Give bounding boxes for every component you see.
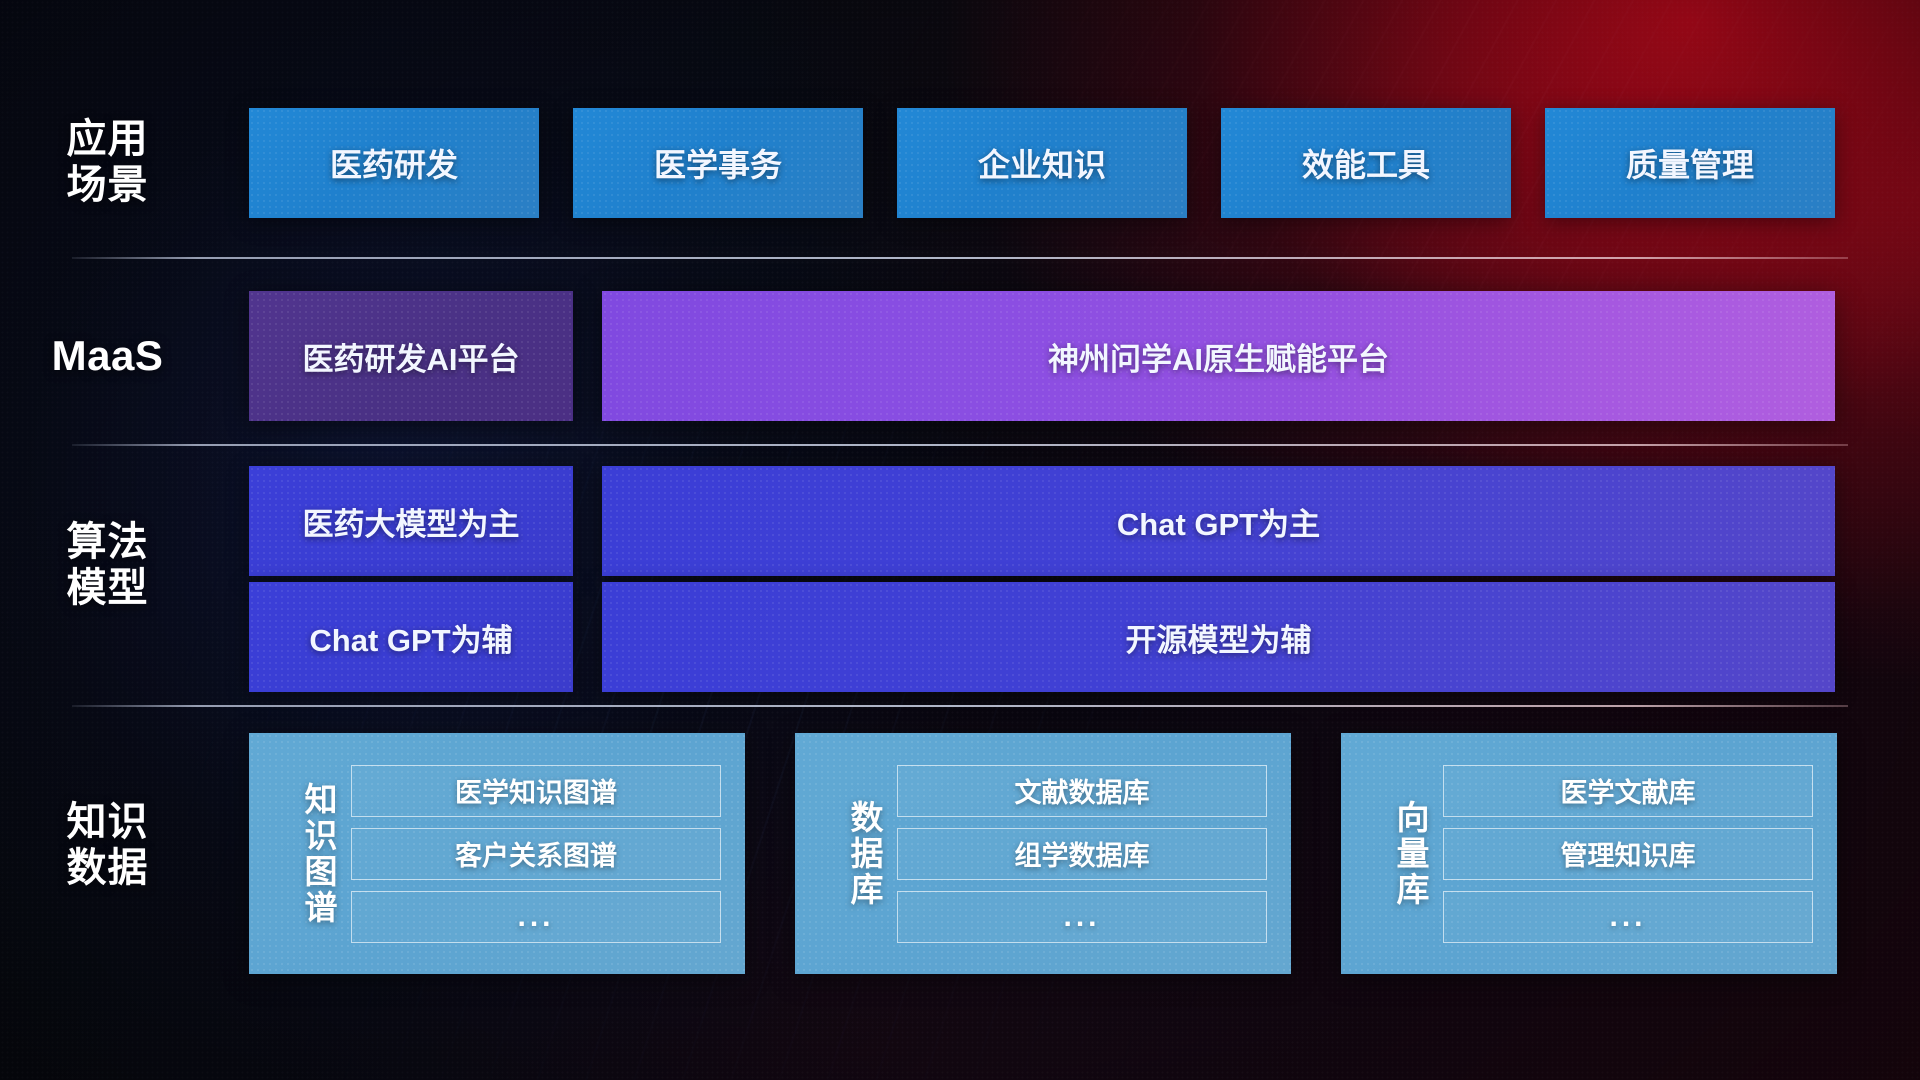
knowledge-item-more[interactable]: ...	[351, 891, 721, 943]
knowledge-panel-title: 向量库	[1371, 800, 1429, 908]
row-label-knowledge-data: 知识数据	[0, 800, 215, 891]
knowledge-item-more[interactable]: ...	[897, 891, 1267, 943]
algo-cell-label: Chat GPT为主	[1117, 499, 1320, 544]
app-cell-enterprise-knowledge[interactable]: 企业知识	[897, 108, 1187, 218]
knowledge-panel-vector-store[interactable]: 向量库 医学文献库 管理知识库 ...	[1341, 733, 1837, 974]
row-label-algorithm-models: 算法模型	[0, 520, 215, 611]
knowledge-panel-items: 医学知识图谱 客户关系图谱 ...	[351, 765, 721, 943]
knowledge-panel-title: 数据库	[825, 800, 883, 908]
knowledge-item-more[interactable]: ...	[1443, 891, 1813, 943]
algo-cell-opensource-secondary[interactable]: 开源模型为辅	[602, 582, 1835, 692]
app-cell-label: 质量管理	[1626, 140, 1754, 186]
knowledge-item[interactable]: 医学知识图谱	[351, 765, 721, 817]
maas-cell-medicine-rd-ai-platform[interactable]: 医药研发AI平台	[249, 291, 573, 421]
app-cell-label: 医药研发	[330, 140, 458, 186]
knowledge-item[interactable]: 文献数据库	[897, 765, 1267, 817]
divider-3	[72, 705, 1848, 707]
app-cell-label: 企业知识	[978, 140, 1106, 186]
knowledge-panel-title: 知识图谱	[279, 782, 337, 926]
app-cell-quality-management[interactable]: 质量管理	[1545, 108, 1835, 218]
knowledge-item[interactable]: 医学文献库	[1443, 765, 1813, 817]
maas-cell-label: 神州问学AI原生赋能平台	[1048, 334, 1389, 379]
knowledge-panel-items: 医学文献库 管理知识库 ...	[1443, 765, 1813, 943]
knowledge-item[interactable]: 客户关系图谱	[351, 828, 721, 880]
row-label-maas: MaaS	[0, 332, 215, 380]
app-cell-label: 医学事务	[654, 140, 782, 186]
maas-cell-label: 医药研发AI平台	[303, 334, 520, 379]
algo-cell-chatgpt-primary[interactable]: Chat GPT为主	[602, 466, 1835, 576]
app-cell-label: 效能工具	[1302, 140, 1430, 186]
app-cell-medical-affairs[interactable]: 医学事务	[573, 108, 863, 218]
divider-1	[72, 257, 1848, 259]
knowledge-panel-items: 文献数据库 组学数据库 ...	[897, 765, 1267, 943]
architecture-diagram: 应用场景 医药研发 医学事务 企业知识 效能工具 质量管理 MaaS 医药研发A…	[0, 0, 1920, 1080]
knowledge-item[interactable]: 组学数据库	[897, 828, 1267, 880]
algo-cell-medicine-large-model-primary[interactable]: 医药大模型为主	[249, 466, 573, 576]
algo-cell-label: 开源模型为辅	[1126, 615, 1312, 660]
algo-cell-chatgpt-secondary[interactable]: Chat GPT为辅	[249, 582, 573, 692]
algo-cell-label: Chat GPT为辅	[309, 615, 512, 660]
divider-2	[72, 444, 1848, 446]
knowledge-panel-graph[interactable]: 知识图谱 医学知识图谱 客户关系图谱 ...	[249, 733, 745, 974]
row-label-application-scenarios: 应用场景	[0, 117, 215, 208]
knowledge-item[interactable]: 管理知识库	[1443, 828, 1813, 880]
app-cell-medicine-rd[interactable]: 医药研发	[249, 108, 539, 218]
maas-cell-shenzhou-wenxue-platform[interactable]: 神州问学AI原生赋能平台	[602, 291, 1835, 421]
algo-cell-label: 医药大模型为主	[303, 499, 520, 544]
knowledge-panel-database[interactable]: 数据库 文献数据库 组学数据库 ...	[795, 733, 1291, 974]
app-cell-efficiency-tools[interactable]: 效能工具	[1221, 108, 1511, 218]
